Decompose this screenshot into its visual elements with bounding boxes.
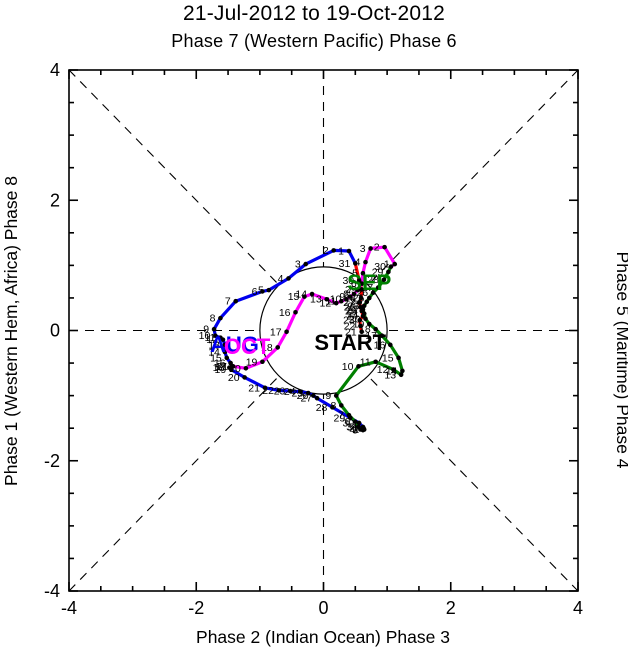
y-tick-label: 4 (50, 60, 60, 80)
x-tick-label: 2 (446, 598, 456, 618)
data-point (303, 262, 308, 267)
data-point (399, 372, 404, 377)
day-number: 8 (210, 313, 216, 325)
data-point (310, 292, 315, 297)
data-point (368, 246, 373, 251)
day-number: 14 (386, 365, 398, 377)
mjo-phase-diagram: 21-Jul-2012 to 19-Oct-2012 Phase 7 (West… (0, 0, 628, 654)
data-point (382, 245, 387, 250)
day-number: 6 (252, 286, 258, 298)
data-point (347, 249, 352, 254)
data-point (212, 327, 217, 332)
data-point (324, 297, 329, 302)
data-point (339, 403, 344, 408)
data-point (388, 343, 393, 348)
data-point (293, 310, 298, 315)
day-number: 21 (216, 361, 228, 373)
day-number: 9 (325, 390, 331, 402)
x-axis-label: Phase 2 (Indian Ocean) Phase 3 (196, 627, 450, 647)
data-point (353, 419, 358, 424)
day-number: 17 (270, 326, 282, 338)
data-point (260, 289, 265, 294)
day-number: 31 (339, 258, 351, 270)
day-number: 2 (374, 242, 380, 254)
data-point (334, 301, 339, 306)
data-point (363, 316, 368, 321)
day-number: 10 (342, 361, 354, 373)
day-number: 2 (323, 245, 329, 257)
data-point (347, 413, 352, 418)
data-point (302, 294, 307, 299)
data-point (363, 260, 368, 265)
day-number: 11 (360, 356, 371, 368)
data-point (275, 345, 280, 350)
data-point (266, 288, 271, 293)
day-number: 15 (288, 291, 300, 303)
data-point (315, 396, 320, 401)
start-label: START (314, 330, 386, 355)
data-point (392, 262, 397, 267)
day-number: 3 (360, 243, 366, 255)
plot-canvas: -4-2024-4-2024 2122232425262728293031123… (0, 0, 628, 654)
data-point (331, 248, 336, 253)
data-point (367, 322, 372, 327)
day-number: 22 (262, 385, 274, 397)
data-point (400, 369, 405, 374)
y-axis-label-left: Phase 1 (Western Hem, Africa) Phase 8 (1, 176, 21, 486)
day-number: 4 (278, 273, 284, 285)
data-point (231, 364, 236, 369)
day-number: 8 (330, 400, 336, 412)
data-point (242, 375, 247, 380)
day-number: 1 (338, 246, 344, 258)
y-tick-label: -2 (44, 451, 60, 471)
data-point (260, 359, 265, 364)
day-number: 7 (225, 296, 231, 308)
x-tick-label: 4 (573, 598, 583, 618)
data-point (396, 356, 401, 361)
y-axis-label-right: Phase 5 (Maritime) Phase 4 (613, 252, 628, 469)
day-number: 21 (248, 382, 260, 394)
data-point (344, 297, 349, 302)
day-number: 1 (384, 259, 390, 271)
data-point (284, 330, 289, 335)
y-tick-label: -4 (44, 581, 60, 601)
x-tick-label: -2 (188, 598, 204, 618)
day-number: 28 (316, 402, 328, 414)
data-point (339, 299, 344, 304)
month-label: OCT (224, 334, 271, 359)
data-point (233, 299, 238, 304)
y-tick-label: 0 (50, 321, 60, 341)
data-point (334, 393, 339, 398)
data-point (218, 316, 223, 321)
data-point (286, 276, 291, 281)
day-number: 27 (300, 393, 312, 405)
data-point (356, 425, 361, 430)
day-number: 3 (295, 259, 301, 271)
day-number: 16 (279, 307, 291, 319)
data-point (362, 311, 367, 316)
day-number: 20 (229, 363, 241, 375)
data-point (364, 300, 369, 305)
y-tick-label: 2 (50, 190, 60, 210)
month-label: SEP (347, 270, 391, 295)
data-point (244, 366, 249, 371)
x-tick-label: 0 (318, 598, 328, 618)
day-number: 7 (338, 410, 344, 422)
x-tick-label: -4 (61, 598, 77, 618)
day-number: 6 (344, 416, 350, 428)
